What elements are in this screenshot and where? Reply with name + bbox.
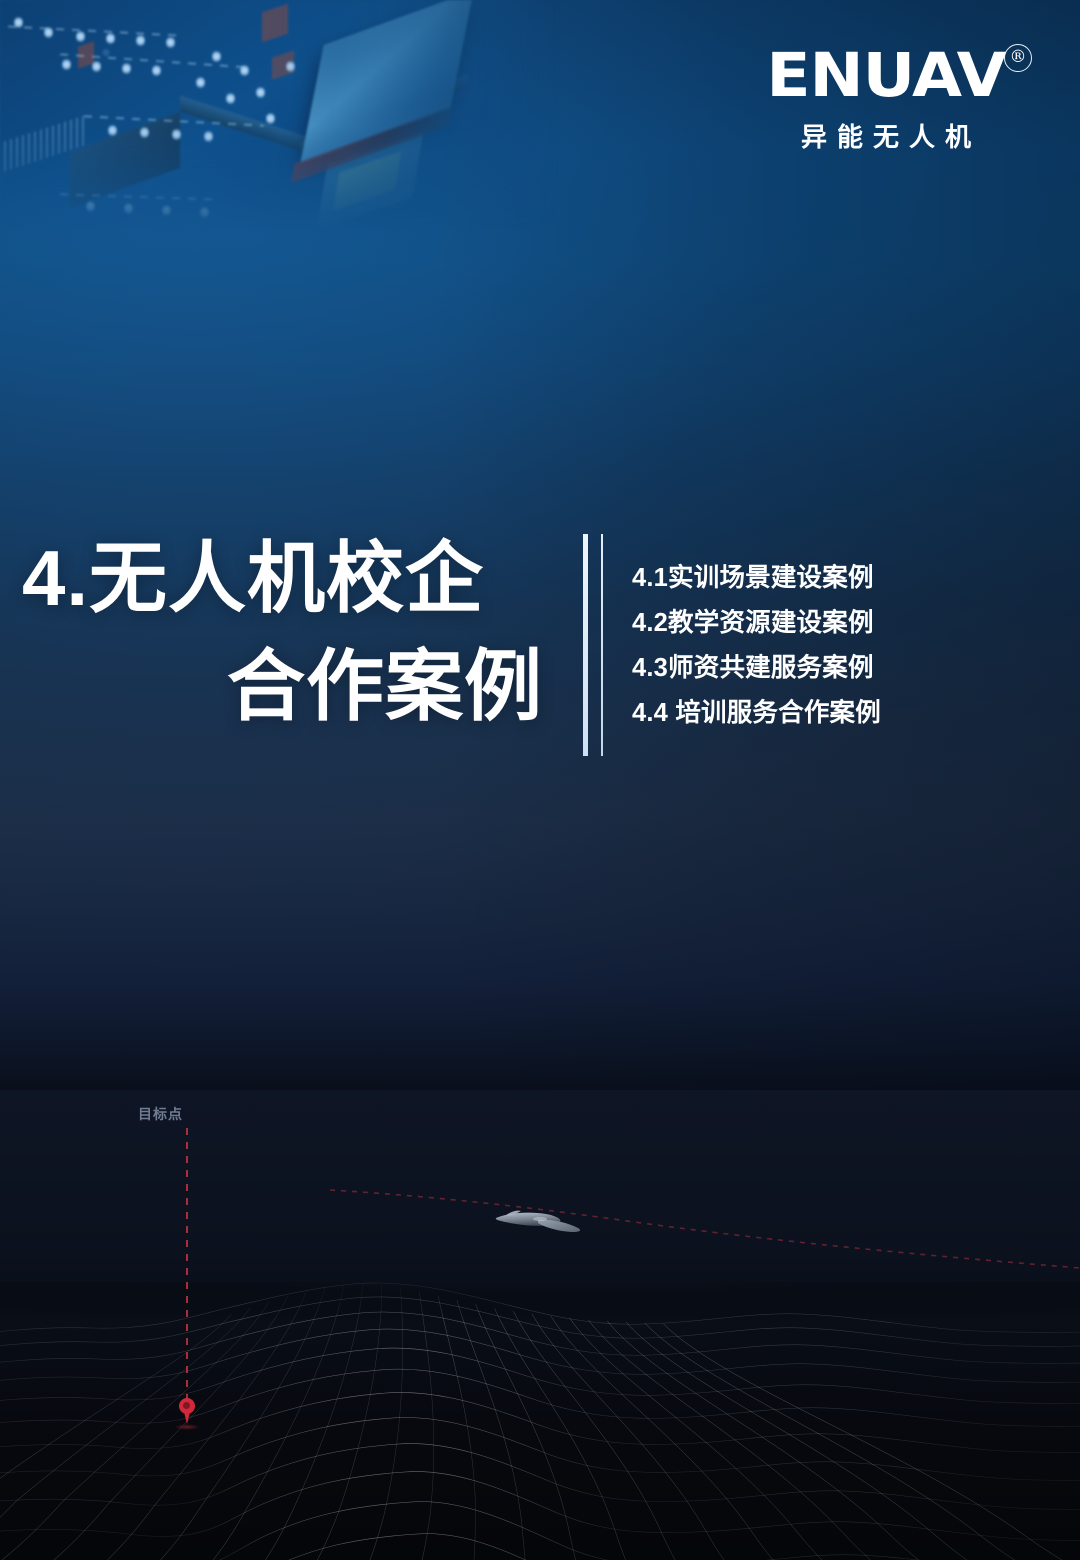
agenda-list: 4.1实训场景建设案例 4.2教学资源建设案例 4.3师资共建服务案例 4.4 …	[632, 558, 1052, 738]
fixed-wing-uav-icon	[490, 1205, 590, 1237]
circuit-solder-point	[200, 206, 209, 219]
pin-dot	[183, 1402, 190, 1409]
circuit-solder-point	[172, 128, 181, 141]
circuit-solder-point	[140, 126, 149, 139]
circuit-solder-point	[136, 34, 145, 47]
page-title-line-1: 4.无人机校企	[22, 525, 567, 633]
circuit-board-image	[0, 0, 560, 230]
wireframe-terrain	[0, 1282, 1080, 1560]
circuit-solder-point	[152, 64, 161, 77]
circuit-solder-point	[204, 130, 213, 143]
circuit-solder-point	[166, 36, 175, 49]
page-title: 4.无人机校企 合作案例	[22, 525, 567, 740]
target-point-label: 目标点	[138, 1104, 183, 1124]
agenda-item-4-3[interactable]: 4.3师资共建服务案例	[632, 648, 1052, 689]
circuit-solder-point	[212, 50, 221, 63]
agenda-item-4-4[interactable]: 4.4 培训服务合作案例	[632, 693, 1052, 734]
circuit-solder-point	[266, 112, 275, 125]
brand-logo: ® ENUAV 异能无人机	[726, 46, 1046, 154]
circuit-solder-point	[240, 64, 249, 77]
agenda-item-4-2[interactable]: 4.2教学资源建设案例	[632, 603, 1052, 644]
divider-bar-thick	[583, 534, 588, 756]
agenda-item-4-1[interactable]: 4.1实训场景建设案例	[632, 558, 1052, 599]
circuit-solder-point	[92, 60, 101, 73]
circuit-solder-point	[44, 26, 53, 39]
circuit-solder-point	[124, 202, 133, 215]
target-pin-icon	[178, 1398, 196, 1428]
circuit-solder-point	[62, 58, 71, 71]
pin-base-glow	[174, 1424, 200, 1430]
circuit-solder-point	[86, 200, 95, 213]
page-title-line-2: 合作案例	[22, 633, 567, 741]
circuit-solder-point	[76, 30, 85, 43]
presentation-slide: ® ENUAV 异能无人机 4.无人机校企 合作案例 4.1实训场景建设案例 4…	[0, 0, 1080, 1560]
divider-bar-thin	[601, 534, 603, 756]
circuit-solder-point	[162, 204, 171, 217]
circuit-solder-point	[122, 62, 131, 75]
brand-wordmark: ENUAV	[716, 46, 1055, 106]
circuit-solder-point	[106, 32, 115, 45]
brand-subtitle: 异能无人机	[726, 117, 1046, 154]
target-drop-line	[186, 1128, 188, 1408]
circuit-solder-point	[286, 60, 295, 73]
circuit-solder-point	[196, 76, 205, 89]
circuit-solder-point	[226, 92, 235, 105]
circuit-solder-point	[14, 16, 23, 29]
circuit-solder-point	[256, 86, 265, 99]
circuit-solder-point	[108, 124, 117, 137]
